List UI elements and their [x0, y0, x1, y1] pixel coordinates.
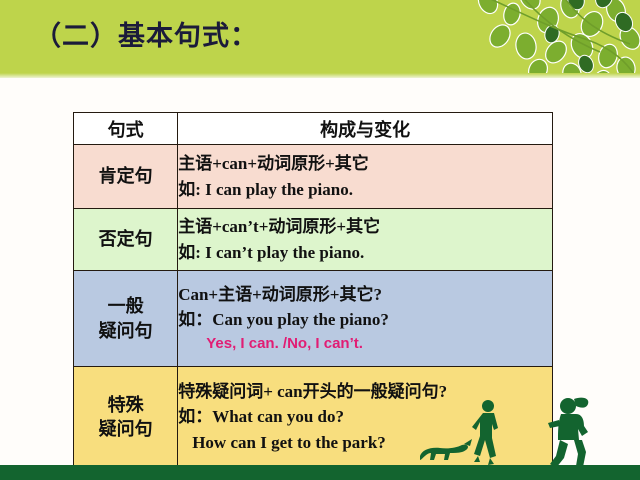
content-line-answer: Yes, I can. /No, I can’t.: [178, 333, 552, 356]
content-line: 如：Can you play the piano?: [178, 307, 552, 333]
table-header-cell-pattern: 句式: [74, 113, 178, 145]
table-row: 一般 疑问句 Can+主语+动词原形+其它? 如：Can you play th…: [74, 271, 553, 367]
row-content-affirmative: 主语+can+动词原形+其它 如: I can play the piano.: [178, 145, 553, 209]
foliage-decoration-icon: [380, 0, 640, 78]
content-line: Can+主语+动词原形+其它?: [178, 282, 552, 308]
category-label-line1: 特殊: [74, 393, 177, 417]
table-header-cell-structure: 构成与变化: [178, 113, 553, 145]
table-row: 否定句 主语+can’t+动词原形+其它 如: I can’t play the…: [74, 209, 553, 271]
row-content-negative: 主语+can’t+动词原形+其它 如: I can’t play the pia…: [178, 209, 553, 271]
table-row: 肯定句 主语+can+动词原形+其它 如: I can play the pia…: [74, 145, 553, 209]
category-label-line2: 疑问句: [74, 319, 177, 343]
page-title: （二）基本句式：: [34, 14, 258, 53]
row-content-general-question: Can+主语+动词原形+其它? 如：Can you play the piano…: [178, 271, 553, 367]
header-banner: （二）基本句式：: [0, 0, 640, 78]
category-label-line1: 一般: [74, 294, 177, 318]
banner-fade: [0, 73, 640, 78]
slide-canvas: （二）基本句式： 句式 构成与变化 肯定句 主语+can+动词原形+其它 如: …: [0, 0, 640, 480]
row-category-general-question: 一般 疑问句: [74, 271, 178, 367]
category-label-line2: 疑问句: [74, 417, 177, 441]
dog-silhouette: [420, 439, 472, 460]
ground-strip: [0, 465, 640, 480]
children-silhouettes-decoration: [400, 392, 640, 468]
running-girl-silhouette: [548, 398, 588, 468]
row-category-affirmative: 肯定句: [74, 145, 178, 209]
content-line: 如: I can’t play the piano.: [178, 240, 552, 266]
row-category-special-question: 特殊 疑问句: [74, 367, 178, 468]
header-label-pattern: 句式: [74, 116, 177, 142]
running-boy-silhouette: [472, 400, 498, 465]
table-header-row: 句式 构成与变化: [74, 113, 553, 145]
row-category-negative: 否定句: [74, 209, 178, 271]
header-label-structure: 构成与变化: [178, 116, 552, 142]
content-line: 如: I can play the piano.: [178, 177, 552, 203]
content-line: 主语+can+动词原形+其它: [178, 151, 552, 177]
category-label: 否定句: [74, 227, 177, 251]
content-line: 主语+can’t+动词原形+其它: [178, 214, 552, 240]
category-label: 肯定句: [74, 164, 177, 188]
